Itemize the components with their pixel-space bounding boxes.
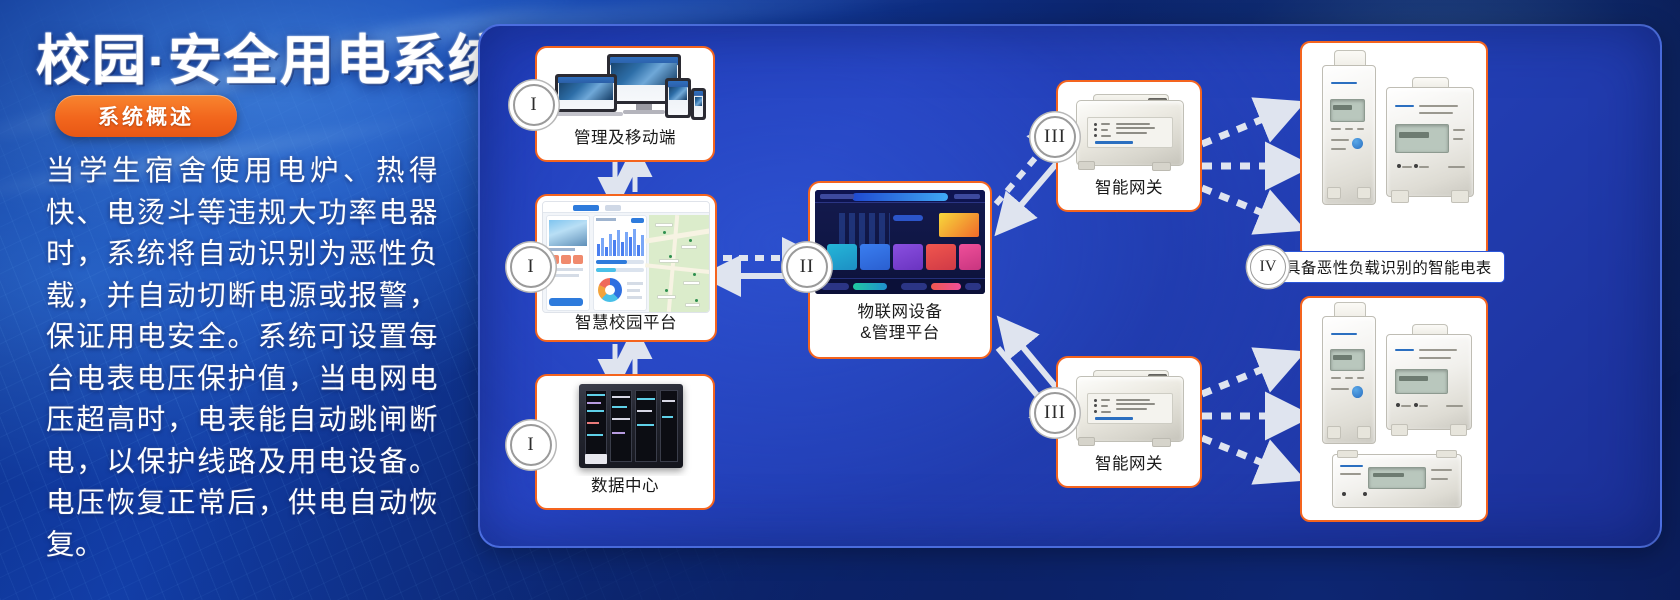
badge-gateway-top: III — [1034, 116, 1076, 158]
node-admin-mobile[interactable]: 管理及移动端 — [535, 46, 715, 162]
callout-smart-meter[interactable]: 具备恶性负载识别的智能电表 — [1248, 251, 1505, 283]
node-label-line1: 物联网设备 — [810, 302, 990, 323]
smart-meter-icon — [1386, 87, 1474, 197]
left-info-column: 校园·安全用电系统 系统概述 当学生宿舍使用电炉、热得快、电烫斗等违规大功率电器… — [0, 0, 480, 600]
arrow-admin-campus — [615, 162, 635, 192]
badge-iot-platform: II — [786, 246, 828, 288]
smart-meter-icon — [1322, 316, 1376, 444]
node-gateway-top[interactable]: 智能网关 — [1056, 80, 1202, 212]
smart-meter-icon — [1322, 65, 1376, 205]
node-data-center[interactable]: 数据中心 — [535, 374, 715, 510]
smart-meter-icon — [1386, 334, 1472, 430]
intro-paragraph: 当学生宿舍使用电炉、热得快、电烫斗等违规大功率电器时，系统将自动识别为恶性负载，… — [46, 150, 438, 565]
arrow-campus-datacenter — [615, 344, 635, 374]
node-label: 智慧校园平台 — [537, 313, 715, 334]
architecture-diagram-panel: 管理及移动端 I — [478, 24, 1662, 548]
node-label: 管理及移动端 — [537, 128, 713, 149]
dashboard-map-icon — [542, 201, 710, 313]
node-gateway-bottom[interactable]: 智能网关 — [1056, 356, 1202, 488]
iot-dashboard-icon — [815, 190, 985, 294]
meter-group-bottom[interactable] — [1300, 296, 1488, 522]
server-rack-icon — [537, 376, 713, 476]
callout-label: 具备恶性负载识别的智能电表 — [1285, 256, 1492, 278]
badge-data-center: I — [510, 424, 552, 466]
node-label: 数据中心 — [537, 476, 713, 497]
overview-badge: 系统概述 — [55, 95, 237, 137]
node-label-line2: &管理平台 — [810, 323, 990, 344]
overview-badge-label: 系统概述 — [98, 101, 194, 131]
arrow-gateway-top-to-meters — [1202, 112, 1286, 220]
node-label: 智能网关 — [1058, 454, 1200, 475]
badge-campus-platform: I — [510, 246, 552, 288]
badge-gateway-bottom: III — [1034, 392, 1076, 434]
node-iot-platform[interactable]: 物联网设备 &管理平台 — [808, 181, 992, 359]
arrow-gateway-bottom-to-meters — [1202, 362, 1286, 470]
gateway-device-icon — [1058, 82, 1200, 178]
meter-group-top[interactable] — [1300, 41, 1488, 259]
gateway-device-icon — [1058, 358, 1200, 454]
node-campus-platform[interactable]: 智慧校园平台 — [535, 194, 717, 342]
badge-admin-mobile: I — [513, 84, 555, 126]
page-title: 校园·安全用电系统 — [36, 16, 504, 95]
smart-meter-icon — [1332, 454, 1462, 508]
multi-device-icon — [537, 48, 713, 128]
node-label: 智能网关 — [1058, 178, 1200, 199]
badge-callout-iv: IV — [1250, 249, 1286, 285]
